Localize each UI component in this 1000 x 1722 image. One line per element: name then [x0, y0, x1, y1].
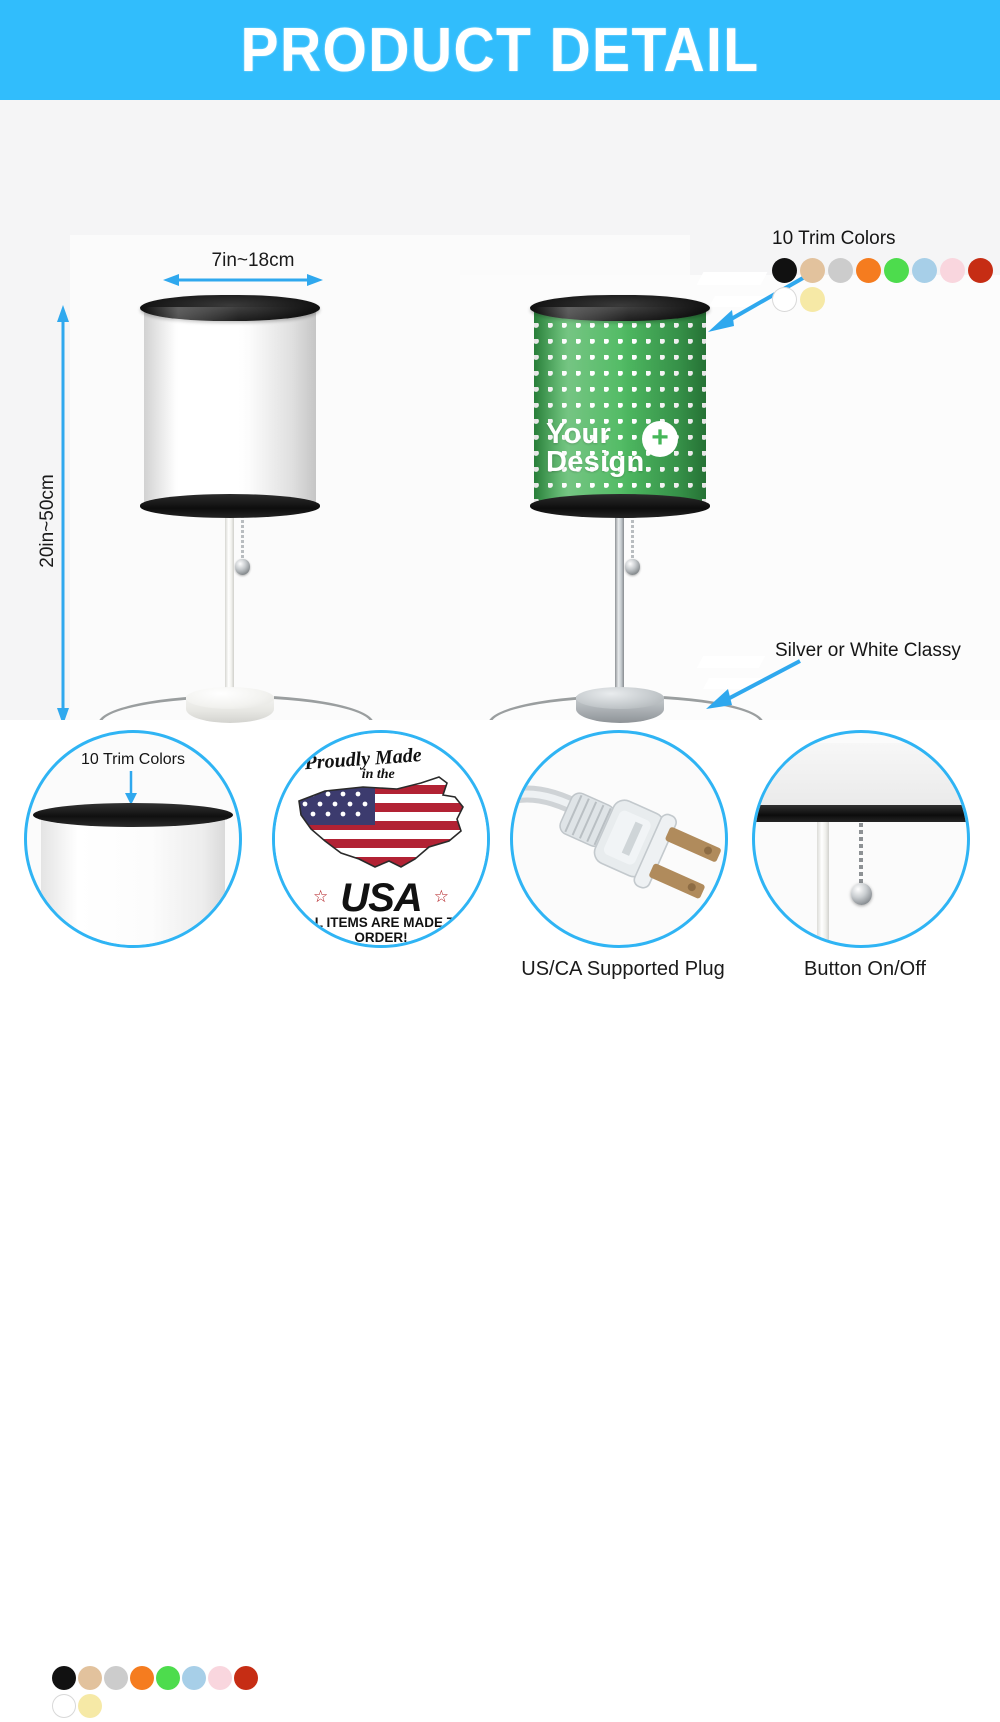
add-design-plus-icon[interactable]: +	[642, 421, 678, 457]
shade-surface	[144, 307, 316, 507]
feature-plug-caption: US/CA Supported Plug	[510, 958, 736, 981]
swatch-white[interactable]	[772, 287, 797, 312]
shade-surface-closeup	[41, 819, 225, 948]
feature-button-on-off: Button On/Off	[752, 730, 978, 981]
page-title: PRODUCT DETAIL	[241, 15, 760, 86]
design-line-2: Design	[546, 448, 696, 476]
feature-circle-usa: Proudly Made in the	[272, 730, 490, 948]
header-banner: PRODUCT DETAIL	[0, 0, 1000, 100]
lampshade-green: Your Design +	[530, 295, 710, 520]
pull-chain[interactable]	[631, 515, 634, 563]
swatch-white[interactable]	[52, 1694, 76, 1718]
product-detail-infographic: PRODUCT DETAIL 7in~18cm 20in~50cm	[0, 0, 1000, 1000]
swatch-light-blue[interactable]	[912, 258, 937, 283]
swatch-gray[interactable]	[828, 258, 853, 283]
lamp-green-sample: Your Design +	[530, 295, 710, 520]
swatch-tan[interactable]	[78, 1666, 102, 1690]
height-dimension-arrow	[55, 305, 71, 725]
shade-trim-top	[140, 295, 320, 321]
trim-colors-inner-label: 10 Trim Colors	[45, 751, 221, 769]
lamp-white-blank	[140, 295, 320, 520]
usa-badge: Proudly Made in the	[275, 733, 487, 945]
shade-trim-closeup	[752, 805, 970, 822]
star-icon: ☆	[434, 887, 449, 907]
feature-plug: US/CA Supported Plug	[510, 730, 736, 981]
swatch-gray[interactable]	[104, 1666, 128, 1690]
shade-trim-closeup	[33, 803, 233, 827]
shade-trim-bottom	[530, 494, 710, 518]
swatch-pink[interactable]	[940, 258, 965, 283]
trim-color-swatch-row	[772, 258, 1000, 316]
swatch-green[interactable]	[884, 258, 909, 283]
feature-switch-caption: Button On/Off	[752, 958, 978, 981]
swatch-red[interactable]	[968, 258, 993, 283]
swatch-black[interactable]	[52, 1666, 76, 1690]
usa-map-flag-icon	[289, 767, 475, 879]
feature-circle-plug	[510, 730, 728, 948]
swatch-orange[interactable]	[856, 258, 881, 283]
pull-chain-bead-closeup[interactable]	[851, 883, 872, 905]
swatch-red[interactable]	[234, 1666, 258, 1690]
lamp-pole-closeup	[817, 822, 829, 945]
feature-highlights-row: 10 Trim Colors Proudly Made in the	[0, 720, 1000, 1000]
swatch-pale-yellow[interactable]	[800, 287, 825, 312]
lampshade-white	[140, 295, 320, 520]
shade-trim-bottom	[140, 494, 320, 518]
lamp-pole	[615, 511, 624, 716]
feature-made-in-usa: Proudly Made in the	[272, 730, 498, 948]
trim-colors-callout: 10 Trim Colors	[772, 228, 1000, 316]
swatch-orange[interactable]	[130, 1666, 154, 1690]
trim-colors-label: 10 Trim Colors	[772, 228, 1000, 250]
swatch-black[interactable]	[772, 258, 797, 283]
base-finish-pointer-arrow	[700, 655, 810, 713]
power-plug-icon	[513, 733, 725, 945]
width-dimension-label: 7in~18cm	[193, 250, 313, 272]
feature-trim-colors: 10 Trim Colors	[24, 730, 250, 948]
pull-chain-bead[interactable]	[235, 559, 250, 575]
star-icon: ☆	[313, 887, 328, 907]
bottom-trim-swatch-row	[52, 1658, 282, 1722]
base-finish-label: Silver or White Classy	[775, 640, 961, 662]
feature-circle-switch	[752, 730, 970, 948]
usa-subtitle: ALL ITEMS ARE MADE TO ORDER!	[275, 915, 487, 945]
lamp-base	[186, 687, 274, 727]
swatch-green[interactable]	[156, 1666, 180, 1690]
trim-down-arrow-icon	[123, 771, 139, 805]
shade-trim-top	[530, 295, 710, 321]
main-showcase-panel: 7in~18cm 20in~50cm	[0, 100, 1000, 720]
swatch-pink[interactable]	[208, 1666, 232, 1690]
swatch-tan[interactable]	[800, 258, 825, 283]
lamp-base	[576, 687, 664, 727]
swatch-light-blue[interactable]	[182, 1666, 206, 1690]
swatch-pale-yellow[interactable]	[78, 1694, 102, 1718]
pull-chain-closeup[interactable]	[859, 823, 863, 887]
shade-surface-closeup	[752, 743, 970, 811]
width-dimension-arrow	[163, 272, 323, 288]
pull-chain[interactable]	[241, 515, 244, 563]
lamp-pole	[225, 511, 234, 716]
feature-circle-trim: 10 Trim Colors	[24, 730, 242, 948]
pull-chain-bead[interactable]	[625, 559, 640, 575]
